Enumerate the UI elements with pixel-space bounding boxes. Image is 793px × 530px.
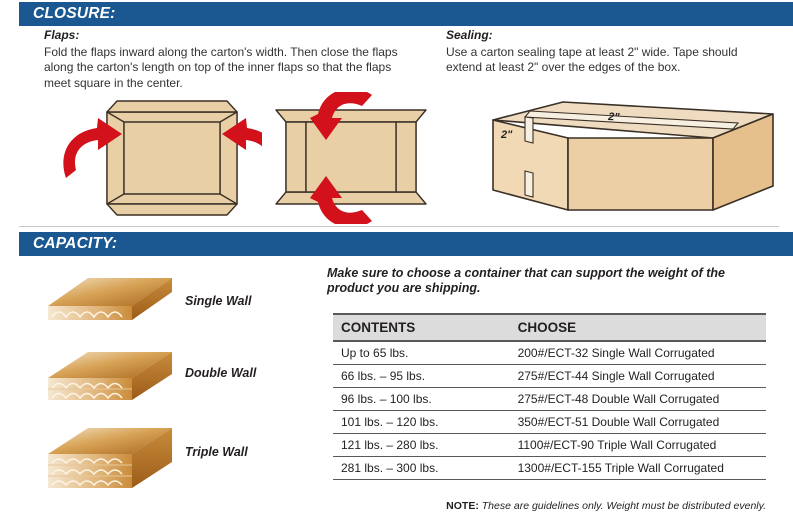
table-row: 101 lbs. – 120 lbs. 350#/ECT-51 Double W… bbox=[333, 411, 766, 434]
cell-choose: 350#/ECT-51 Double Wall Corrugated bbox=[510, 411, 766, 434]
tape-side-label: 2" bbox=[500, 129, 513, 141]
section-title-closure: CLOSURE: bbox=[33, 5, 116, 23]
sealing-heading: Sealing: bbox=[446, 28, 776, 44]
triple-wall-svg bbox=[40, 424, 180, 504]
table-body: Up to 65 lbs. 200#/ECT-32 Single Wall Co… bbox=[333, 341, 766, 480]
sealing-text-block: Sealing: Use a carton sealing tape at le… bbox=[446, 28, 776, 76]
wall-label-triple: Triple Wall bbox=[185, 445, 248, 459]
note-text: These are guidelines only. Weight must b… bbox=[479, 500, 766, 512]
cell-choose: 200#/ECT-32 Single Wall Corrugated bbox=[510, 341, 766, 365]
figure-outer-flaps bbox=[258, 92, 458, 229]
cell-contents: 66 lbs. – 95 lbs. bbox=[333, 365, 510, 388]
cell-contents: 101 lbs. – 120 lbs. bbox=[333, 411, 510, 434]
tape-top-label: 2" bbox=[607, 111, 621, 124]
outer-flaps-diagram-svg bbox=[258, 92, 458, 224]
inner-flaps-diagram-svg bbox=[52, 98, 262, 218]
capacity-table: CONTENTS CHOOSE Up to 65 lbs. 200#/ECT-3… bbox=[333, 313, 766, 480]
wall-sample-triple bbox=[40, 424, 180, 509]
figure-inner-flaps bbox=[52, 98, 262, 223]
flaps-body: Fold the flaps inward along the carton's… bbox=[44, 45, 398, 90]
column-header-contents: CONTENTS bbox=[333, 314, 510, 341]
wall-label-single: Single Wall bbox=[185, 294, 251, 308]
table-row: 121 lbs. – 280 lbs. 1100#/ECT-90 Triple … bbox=[333, 434, 766, 457]
cell-choose: 1100#/ECT-90 Triple Wall Corrugated bbox=[510, 434, 766, 457]
table-row: 96 lbs. – 100 lbs. 275#/ECT-48 Double Wa… bbox=[333, 388, 766, 411]
wall-label-double: Double Wall bbox=[185, 366, 256, 380]
single-wall-svg bbox=[40, 272, 180, 332]
section-title-capacity: CAPACITY: bbox=[33, 235, 117, 253]
section-divider bbox=[19, 226, 779, 227]
cell-contents: 281 lbs. – 300 lbs. bbox=[333, 457, 510, 480]
cell-contents: 96 lbs. – 100 lbs. bbox=[333, 388, 510, 411]
sealing-body: Use a carton sealing tape at least 2" wi… bbox=[446, 45, 738, 75]
section-header-capacity: CAPACITY: bbox=[19, 232, 793, 256]
wall-sample-double bbox=[40, 348, 180, 419]
capacity-note: NOTE: These are guidelines only. Weight … bbox=[333, 500, 766, 512]
sealed-box-diagram-svg: 2" 2" bbox=[483, 98, 783, 223]
cell-choose: 275#/ECT-48 Double Wall Corrugated bbox=[510, 388, 766, 411]
cell-choose: 1300#/ECT-155 Triple Wall Corrugated bbox=[510, 457, 766, 480]
cell-choose: 275#/ECT-44 Single Wall Corrugated bbox=[510, 365, 766, 388]
cell-contents: Up to 65 lbs. bbox=[333, 341, 510, 365]
note-label: NOTE: bbox=[446, 500, 479, 512]
figure-sealed-box: 2" 2" bbox=[483, 98, 783, 228]
table-row: 66 lbs. – 95 lbs. 275#/ECT-44 Single Wal… bbox=[333, 365, 766, 388]
guide-page: CLOSURE: Flaps: Fold the flaps inward al… bbox=[0, 0, 793, 530]
table-header-row: CONTENTS CHOOSE bbox=[333, 314, 766, 341]
wall-sample-single bbox=[40, 272, 180, 337]
double-wall-svg bbox=[40, 348, 180, 414]
flaps-text-block: Flaps: Fold the flaps inward along the c… bbox=[44, 28, 414, 91]
cell-contents: 121 lbs. – 280 lbs. bbox=[333, 434, 510, 457]
capacity-intro: Make sure to choose a container that can… bbox=[327, 266, 757, 296]
flaps-heading: Flaps: bbox=[44, 28, 414, 44]
column-header-choose: CHOOSE bbox=[510, 314, 766, 341]
table-row: Up to 65 lbs. 200#/ECT-32 Single Wall Co… bbox=[333, 341, 766, 365]
table-row: 281 lbs. – 300 lbs. 1300#/ECT-155 Triple… bbox=[333, 457, 766, 480]
section-header-closure: CLOSURE: bbox=[19, 2, 793, 26]
